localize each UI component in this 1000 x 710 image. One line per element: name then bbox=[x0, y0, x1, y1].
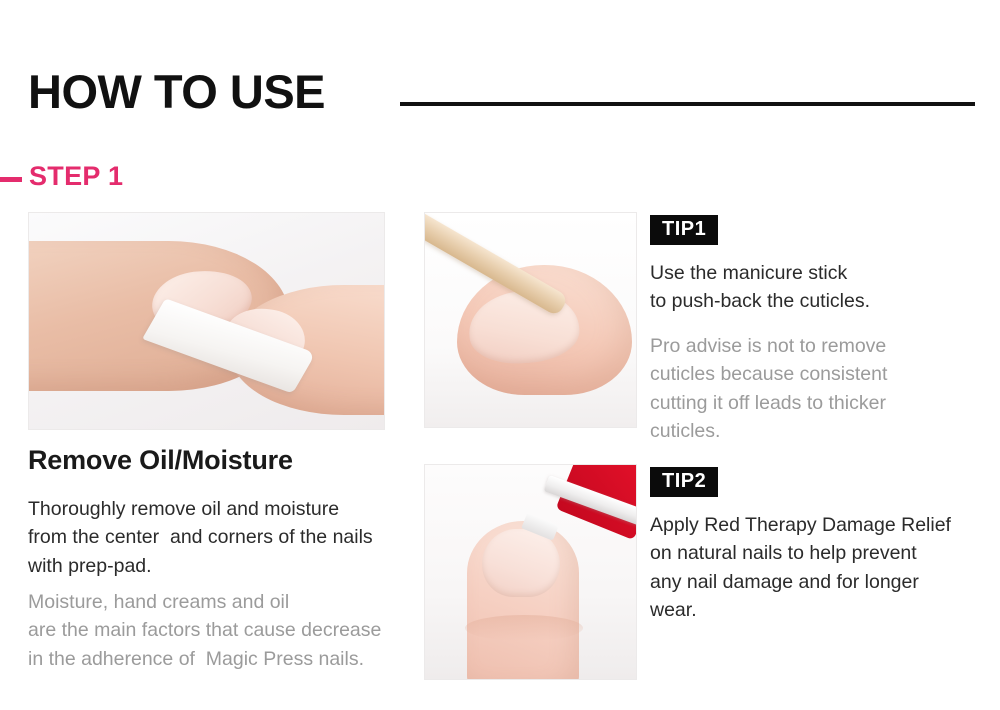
text-line: Apply Red Therapy Damage Relief bbox=[650, 511, 980, 539]
text-line: Pro advise is not to remove bbox=[650, 332, 980, 360]
text-line: wear. bbox=[650, 596, 980, 624]
tip1-secondary-text: Pro advise is not to remove cuticles bec… bbox=[650, 332, 980, 445]
text-line: are the main factors that cause decrease bbox=[28, 616, 428, 644]
text-line: from the center and corners of the nails bbox=[28, 523, 428, 551]
text-line: cuticles. bbox=[650, 417, 980, 445]
tip2-primary-text: Apply Red Therapy Damage Relief on natur… bbox=[650, 511, 980, 624]
step-dash-icon bbox=[0, 177, 22, 182]
photo-red-therapy bbox=[424, 464, 637, 680]
text-line: with prep-pad. bbox=[28, 552, 428, 580]
text-line: Use the manicure stick bbox=[650, 259, 980, 287]
text-line: Moisture, hand creams and oil bbox=[28, 588, 428, 616]
tip2-badge: TIP2 bbox=[650, 467, 718, 497]
step-label: STEP 1 bbox=[29, 163, 123, 190]
page-title: HOW TO USE bbox=[28, 68, 325, 115]
tip1-badge: TIP1 bbox=[650, 215, 718, 245]
photo-manicure-stick bbox=[424, 212, 637, 428]
tip1-primary-text: Use the manicure stick to push-back the … bbox=[650, 259, 980, 316]
knuckle-shading bbox=[465, 615, 583, 641]
left-column-secondary-text: Moisture, hand creams and oil are the ma… bbox=[28, 588, 428, 673]
title-rule bbox=[400, 102, 975, 106]
text-line: Thoroughly remove oil and moisture bbox=[28, 495, 428, 523]
photo-prep-pad bbox=[28, 212, 385, 430]
text-line: on natural nails to help prevent bbox=[650, 539, 980, 567]
left-column-heading: Remove Oil/Moisture bbox=[28, 447, 293, 474]
text-line: cutting it off leads to thicker bbox=[650, 389, 980, 417]
left-column-primary-text: Thoroughly remove oil and moisture from … bbox=[28, 495, 428, 580]
text-line: cuticles because consistent bbox=[650, 360, 980, 388]
text-line: to push-back the cuticles. bbox=[650, 287, 980, 315]
text-line: in the adherence of Magic Press nails. bbox=[28, 645, 428, 673]
text-line: any nail damage and for longer bbox=[650, 568, 980, 596]
